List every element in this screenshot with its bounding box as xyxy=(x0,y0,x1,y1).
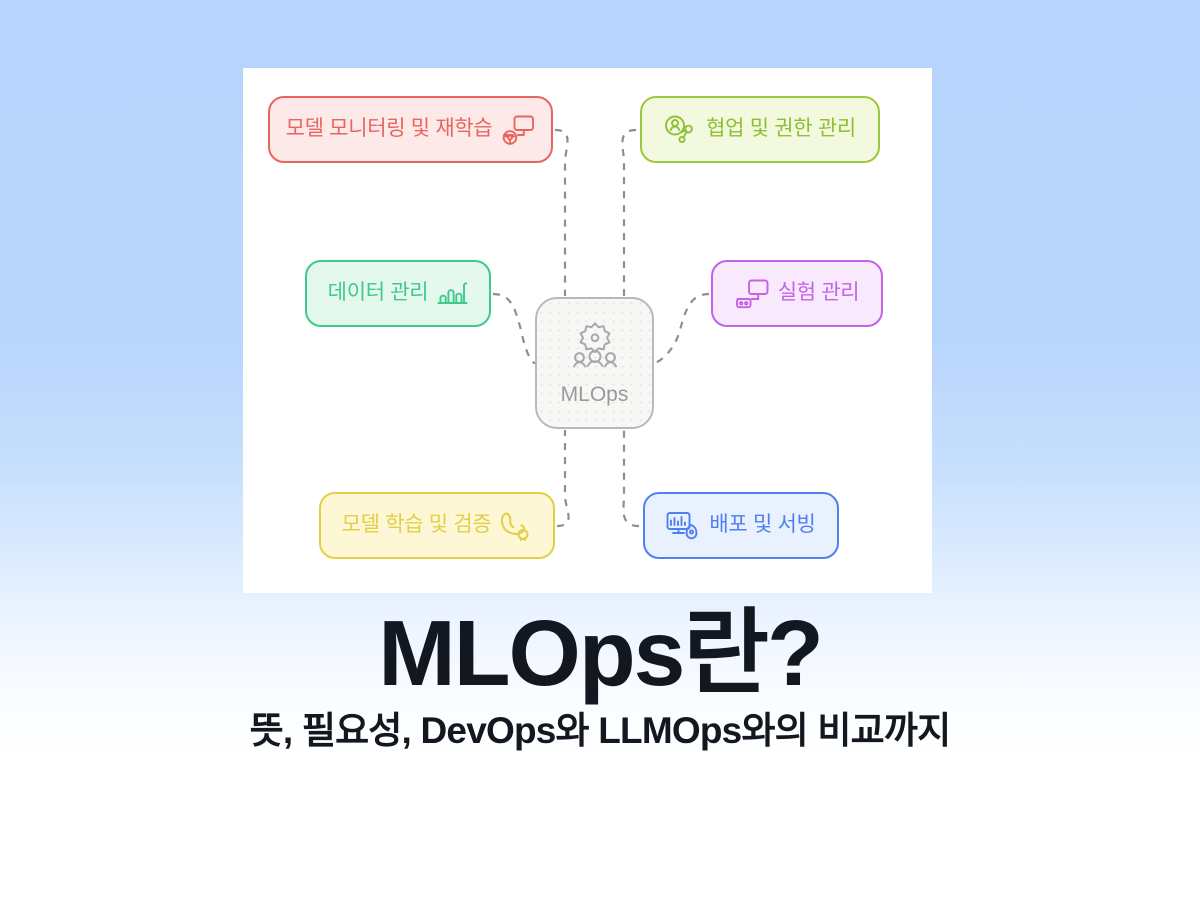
mindmap-card: 모델 모니터링 및 재학습 xyxy=(243,68,932,593)
page-subtitle: 뜻, 필요성, DevOps와 LLMOps와의 비교까지 xyxy=(0,709,1200,753)
mindmap-node-collaboration[interactable]: 협업 및 권한 관리 xyxy=(640,96,880,163)
muscle-arm-icon xyxy=(500,511,532,541)
gear-people-icon xyxy=(566,321,624,378)
mindmap-center-label: MLOps xyxy=(561,384,629,405)
mindmap-node-deployment-label: 배포 및 서빙 xyxy=(709,514,815,535)
bar-chart-icon xyxy=(437,281,468,306)
mindmap-node-experiment-label: 실험 관리 xyxy=(778,282,860,303)
monitor-server-icon xyxy=(735,279,769,309)
page-title: MLOps란? xyxy=(0,606,1200,701)
connector-experiment xyxy=(654,294,709,363)
mindmap-node-training[interactable]: 모델 학습 및 검증 xyxy=(319,492,555,559)
user-share-icon xyxy=(664,115,697,145)
mindmap-node-deployment[interactable]: 배포 및 서빙 xyxy=(643,492,839,559)
mindmap-node-collaboration-label: 협업 및 권한 관리 xyxy=(706,118,856,139)
monitor-gauge-icon xyxy=(501,115,535,145)
mindmap-node-data[interactable]: 데이터 관리 xyxy=(305,260,491,327)
connector-deployment xyxy=(623,430,639,526)
mindmap-node-data-label: 데이터 관리 xyxy=(328,282,429,303)
mindmap-node-training-label: 모델 학습 및 검증 xyxy=(342,514,492,535)
headline-block: MLOps란? 뜻, 필요성, DevOps와 LLMOps와의 비교까지 xyxy=(0,606,1200,753)
monitor-rocket-icon xyxy=(666,511,700,541)
mindmap-node-monitoring-label: 모델 모니터링 및 재학습 xyxy=(286,118,493,139)
mindmap-node-monitoring[interactable]: 모델 모니터링 및 재학습 xyxy=(268,96,553,163)
thumbnail-canvas: 모델 모니터링 및 재학습 xyxy=(0,0,1200,900)
mindmap-center-node[interactable]: MLOps xyxy=(535,297,654,429)
connector-training xyxy=(557,430,569,526)
connector-data xyxy=(493,294,535,363)
mindmap-node-experiment[interactable]: 실험 관리 xyxy=(711,260,883,327)
connector-collaboration xyxy=(622,130,636,296)
connector-monitoring xyxy=(555,130,568,296)
